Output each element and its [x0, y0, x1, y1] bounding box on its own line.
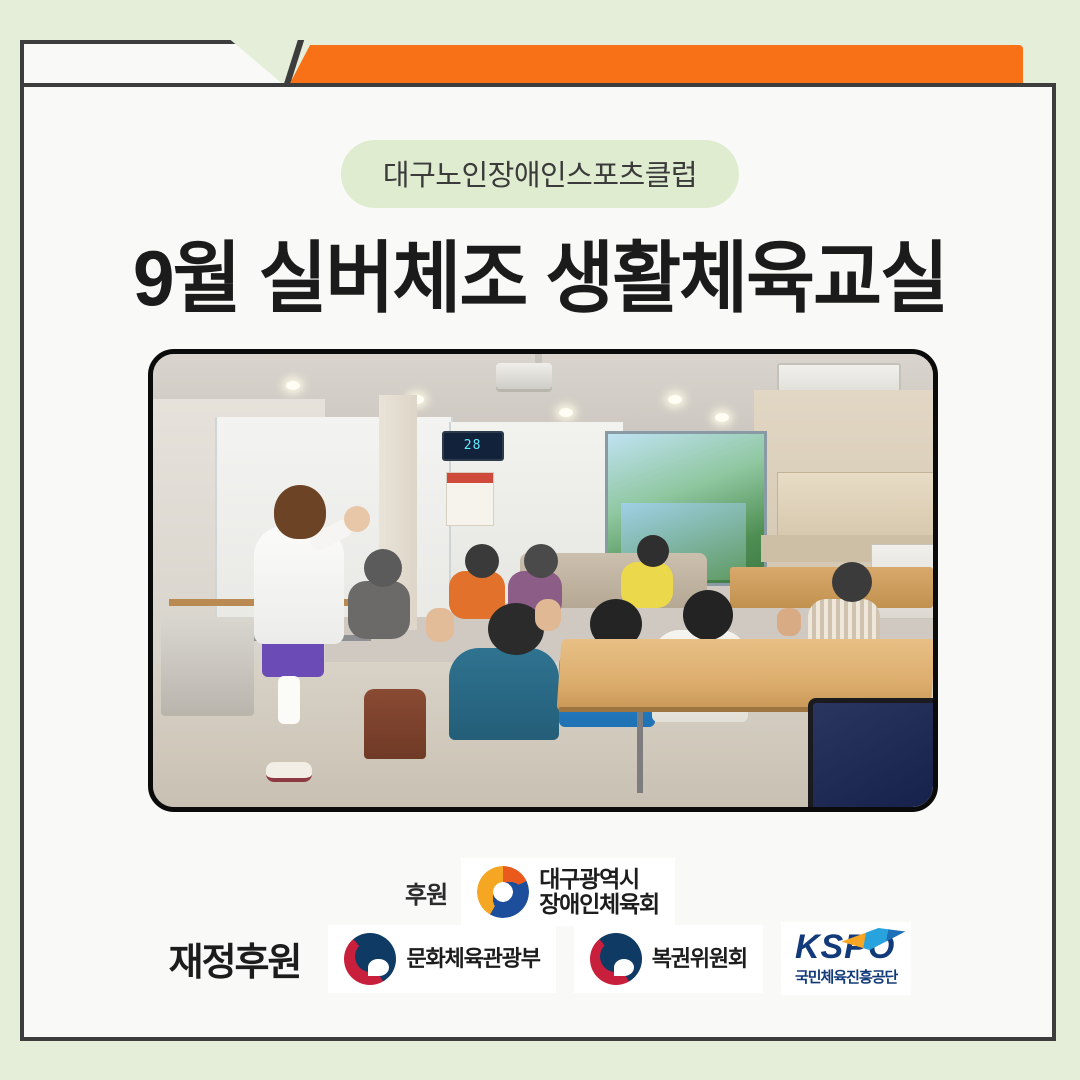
photo-monitor — [808, 698, 938, 812]
club-name-badge: 대구노인장애인스포츠클럽 — [341, 140, 739, 208]
photo-wall-clock: 28 — [442, 431, 504, 461]
photo-instructor-hand — [344, 506, 370, 532]
taegeuk-government-icon — [590, 933, 642, 985]
photo-exercise-machine — [161, 617, 255, 717]
photo-downlight — [286, 381, 300, 390]
photo-participant-hand — [426, 608, 454, 642]
photo-participant-head — [364, 549, 402, 587]
photo-kitchen-cabinet — [777, 472, 935, 537]
photo-chair — [364, 689, 426, 759]
logo-daegu-text: 대구광역시 장애인체육회 — [539, 867, 659, 917]
photo-participant-head — [832, 562, 872, 602]
page-title: 9월 실버체조 생활체육교실 — [22, 216, 1059, 328]
logo-kspo-sub: 국민체육진흥공단 — [795, 966, 897, 987]
logo-kspo: KSPO 국민체육진흥공단 — [781, 922, 911, 995]
logo-mcst-text: 문화체육관광부 — [406, 947, 539, 971]
photo-projector — [496, 363, 552, 389]
photo-wall-calendar — [446, 472, 494, 526]
logo-daegu-line2: 장애인체육회 — [539, 891, 659, 917]
logo-daegu-disabled-sports-council: 대구광역시 장애인체육회 — [461, 858, 675, 926]
logo-daegu-line1: 대구광역시 — [539, 866, 639, 892]
orange-accent-band — [288, 45, 1023, 87]
photo-downlight — [668, 395, 682, 404]
poster-root: 대구노인장애인스포츠클럽 9월 실버체조 생활체육교실 28 — [0, 0, 1080, 1080]
photo-participant-head — [637, 535, 669, 567]
photo-table-leg — [637, 712, 643, 794]
photo-participant — [348, 581, 410, 639]
photo-downlight — [715, 413, 729, 422]
logo-lottery-text: 복권위원회 — [652, 947, 747, 971]
photo-participant — [449, 648, 559, 740]
photo-instructor-shoe — [266, 762, 312, 782]
photo-participant-head — [524, 544, 558, 578]
support-label: 후원 — [405, 875, 447, 910]
photo-participant-head — [683, 590, 733, 640]
support-sponsor-row: 후원 대구광역시 장애인체육회 — [0, 858, 1080, 926]
taegeuk-government-icon — [344, 933, 396, 985]
funding-label: 재정후원 — [169, 931, 301, 986]
taegeuk-orange-blue-icon — [477, 866, 529, 918]
activity-photo: 28 — [148, 349, 938, 812]
logo-lottery-commission: 복권위원회 — [574, 925, 763, 993]
logo-ministry-of-culture-sports-tourism: 문화체육관광부 — [328, 925, 555, 993]
photo-participant-hand — [777, 608, 801, 636]
photo-instructor-head — [274, 485, 326, 539]
photo-participant-hand — [535, 599, 561, 631]
funding-sponsor-row: 재정후원 문화체육관광부 복권위원회 KSPO 국민체육진흥공단 — [0, 922, 1080, 995]
photo-participant-head — [465, 544, 499, 578]
photo-instructor-sock — [278, 676, 300, 724]
